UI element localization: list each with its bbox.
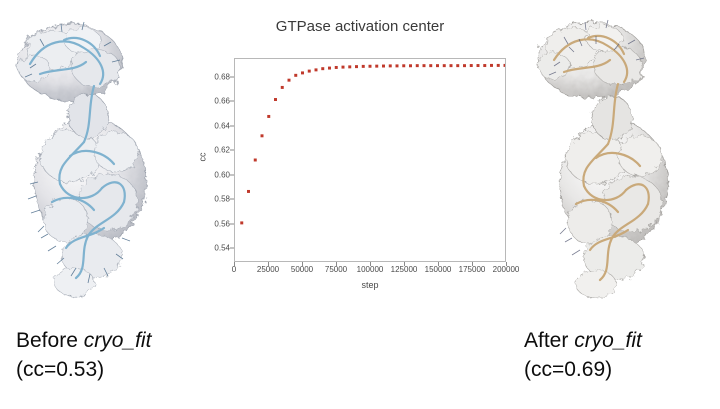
data-point: [281, 86, 284, 89]
caption-after: After cryo_fit (cc=0.69): [524, 326, 642, 384]
caption-after-cc: (cc=0.69): [524, 355, 642, 384]
data-point: [342, 66, 345, 69]
data-point: [362, 65, 365, 68]
data-point: [429, 64, 432, 67]
x-tick-mark: [370, 262, 371, 266]
data-point: [254, 159, 257, 162]
data-point: [240, 221, 243, 224]
x-axis-tick-labels: 0250005000075000100000125000150000175000…: [234, 265, 506, 279]
plot-area: [234, 58, 506, 262]
x-axis-label: step: [234, 280, 506, 290]
data-point: [328, 67, 331, 70]
structure-svg-before: [4, 6, 194, 316]
data-point: [409, 64, 412, 67]
data-point: [267, 115, 270, 118]
data-point: [450, 64, 453, 67]
data-point: [382, 65, 385, 68]
data-point: [477, 64, 480, 67]
data-point: [355, 65, 358, 68]
y-tick-mark: [230, 150, 234, 151]
data-point: [308, 70, 311, 73]
data-point: [301, 71, 304, 74]
data-point: [423, 64, 426, 67]
data-point: [261, 134, 264, 137]
x-tick-mark: [234, 262, 235, 266]
x-tick-mark: [268, 262, 269, 266]
cc-vs-step-chart: GTPase activation center 0.540.560.580.6…: [206, 10, 514, 305]
data-point: [389, 64, 392, 67]
structure-image-after: [518, 6, 708, 316]
x-tick-mark: [472, 262, 473, 266]
data-point: [402, 64, 405, 67]
caption-after-prefix: After: [524, 329, 574, 352]
data-point: [470, 64, 473, 67]
data-point: [416, 64, 419, 67]
data-point: [369, 65, 372, 68]
data-point: [274, 98, 277, 101]
data-point: [483, 64, 486, 67]
data-point: [335, 66, 338, 69]
y-tick-mark: [230, 223, 234, 224]
data-point: [436, 64, 439, 67]
y-tick-mark: [230, 101, 234, 102]
data-point: [294, 74, 297, 77]
data-point: [247, 190, 250, 193]
y-tick-mark: [230, 125, 234, 126]
data-point: [504, 64, 505, 67]
density-head-before: [18, 24, 122, 100]
data-point: [375, 65, 378, 68]
y-axis-tick-marks: [206, 58, 234, 262]
data-point: [288, 79, 291, 82]
data-point: [321, 67, 324, 70]
x-tick-mark: [506, 262, 507, 266]
x-tick-mark: [404, 262, 405, 266]
chart-title: GTPase activation center: [206, 18, 514, 35]
caption-before-cc: (cc=0.53): [16, 355, 151, 384]
data-point: [443, 64, 446, 67]
caption-before: Before cryo_fit (cc=0.53): [16, 326, 151, 384]
scatter-series-cc: [235, 59, 505, 261]
caption-before-italic: cryo_fit: [84, 329, 152, 352]
structure-svg-after: [518, 6, 708, 316]
caption-after-italic: cryo_fit: [574, 329, 642, 352]
caption-before-prefix: Before: [16, 329, 84, 352]
y-tick-mark: [230, 76, 234, 77]
y-tick-mark: [230, 174, 234, 175]
data-point: [497, 64, 500, 67]
data-point: [315, 68, 318, 71]
structure-image-before: [4, 6, 194, 316]
data-point: [463, 64, 466, 67]
y-axis-label: cc: [198, 153, 208, 162]
x-tick-mark: [438, 262, 439, 266]
data-point: [348, 65, 351, 68]
y-tick-mark: [230, 199, 234, 200]
x-axis-tick-marks: [234, 262, 506, 267]
x-tick-mark: [336, 262, 337, 266]
x-tick-mark: [302, 262, 303, 266]
data-point: [396, 64, 399, 67]
data-point: [456, 64, 459, 67]
data-point: [490, 64, 493, 67]
y-tick-mark: [230, 247, 234, 248]
